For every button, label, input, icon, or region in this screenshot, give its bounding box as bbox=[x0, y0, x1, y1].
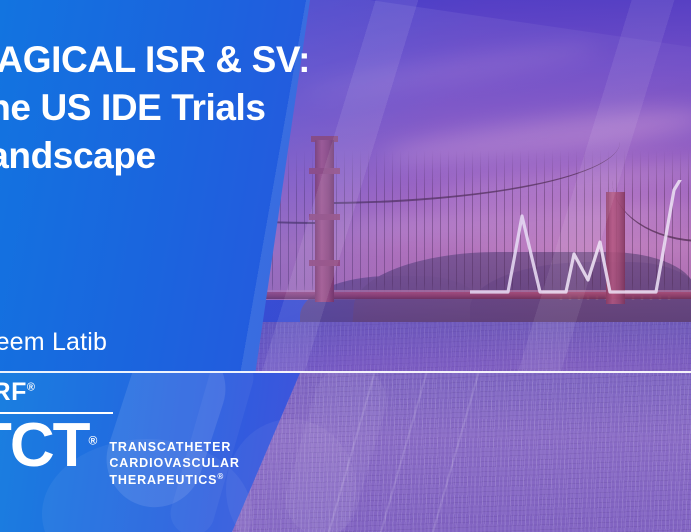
registered-trademark-icon: ® bbox=[89, 433, 98, 447]
slide-title: MAGICAL ISR & SV: The US IDE Trials Land… bbox=[0, 36, 386, 180]
crf-wordmark: CRF® bbox=[0, 380, 240, 406]
registered-trademark-icon: ® bbox=[27, 382, 36, 394]
presentation-title-slide: MAGICAL ISR & SV: The US IDE Trials Land… bbox=[0, 0, 691, 532]
tct-tagline: TRANSCATHETER CARDIOVASCULAR THERAPEUTIC… bbox=[109, 439, 239, 488]
registered-trademark-icon: ® bbox=[217, 472, 224, 481]
tct-logo: CRF® TCT® TRANSCATHETER CARDIOVASCULAR T… bbox=[0, 380, 240, 488]
tct-wordmark: TCT® bbox=[0, 417, 97, 476]
presenter-name: Azeem Latib bbox=[0, 328, 107, 357]
tct-text: TCT bbox=[0, 411, 89, 480]
crf-text: CRF bbox=[0, 378, 27, 406]
